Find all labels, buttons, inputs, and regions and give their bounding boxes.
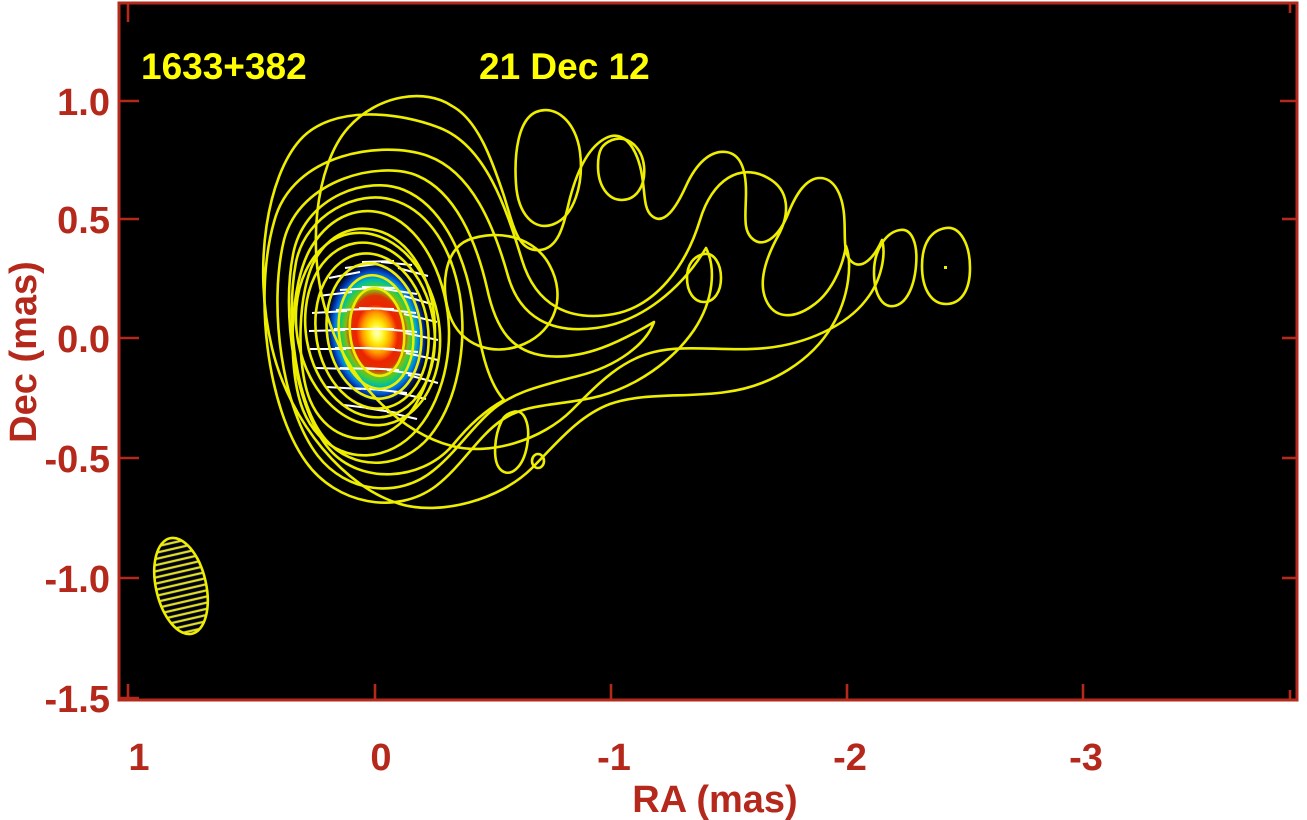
y-tick-label-1: 0.5 [57,200,110,242]
y-tick-labels: 1.0 0.5 0.0 -0.5 -1.0 -1.5 [45,82,110,721]
y-tick-label-5: -1.5 [45,679,110,721]
y-tick-label-3: -0.5 [45,439,110,481]
y-tick-label-4: -1.0 [45,559,110,601]
x-axis-label: RA (mas) [632,779,797,820]
plot-canvas: 1633+382 21 Dec 12 1.0 0.5 0.0 -0.5 -1.0… [0,0,1307,820]
x-tick-label-3: -2 [833,737,867,779]
vlbi-contour-figure: 1633+382 21 Dec 12 1.0 0.5 0.0 -0.5 -1.0… [0,0,1307,820]
x-tick-label-0: 1 [128,737,149,779]
y-tick-label-0: 1.0 [57,82,110,124]
epoch-label: 21 Dec 12 [479,46,650,87]
y-tick-label-2: 0.0 [57,319,110,361]
y-axis-label: Dec (mas) [3,261,45,443]
x-tick-label-1: 0 [370,737,391,779]
x-tick-labels: 1 0 -1 -2 -3 [128,737,1102,779]
source-name-label: 1633+382 [141,46,307,87]
x-tick-label-2: -1 [597,737,631,779]
x-tick-label-4: -3 [1069,737,1103,779]
contour-island-3-peak [944,266,947,269]
